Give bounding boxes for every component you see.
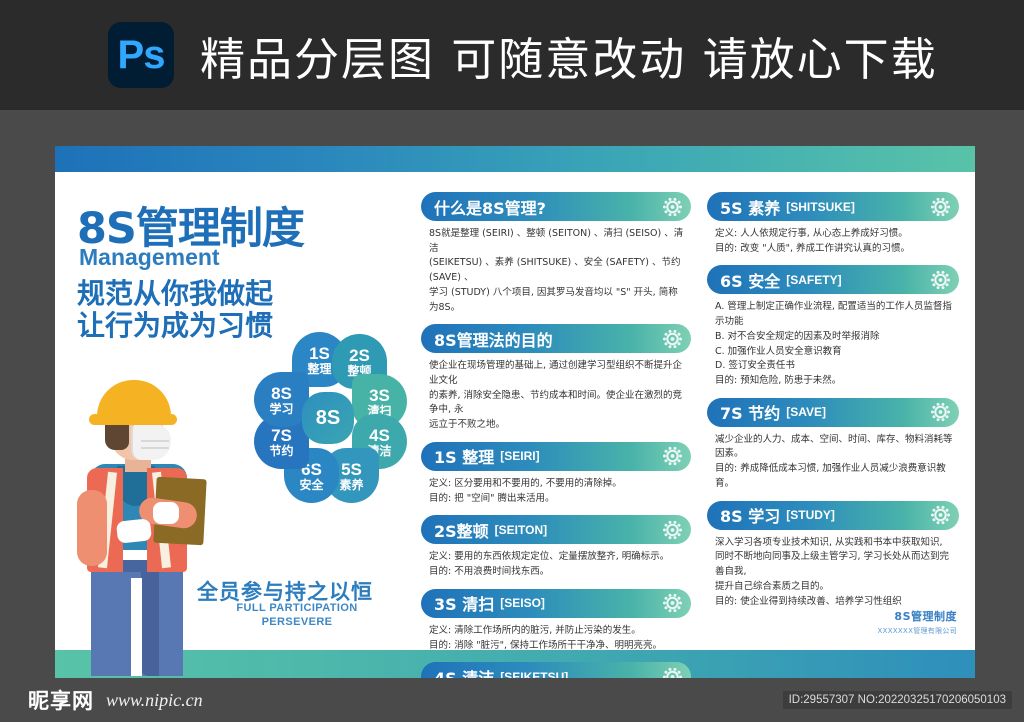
petal-8s-label: 学习 [269,403,293,415]
petal-7s-label: 节约 [269,445,293,457]
right_sections-section-line: D. 签订安全责任书 [715,359,955,374]
worker-mask-pleat-2 [141,447,169,449]
photoshop-logo-icon: Ps [108,22,174,88]
right_sections-section-header[interactable]: 8S 学习[STUDY] [707,501,959,530]
middle_sections-section-header[interactable]: 什么是8S管理? [421,192,691,221]
worker-glove-right [153,502,179,524]
watermark-url: www.nipic.cn [106,690,203,711]
right_sections-section-line: 目的: 养成降低成本习惯, 加强作业人员减少浪费意识教育。 [715,462,955,491]
middle_sections-section-body: 8S就是整理 (SEIRI) 、整顿 (SEITON) 、清扫 (SEISO) … [421,221,691,317]
corporate-name: 8S管理制度 [878,608,957,624]
right_sections-section-body: 定义: 人人依规定行事, 从心态上养成好习惯。目的: 改变 "人质", 养成工作… [707,221,959,258]
worker-mask-pleat-1 [141,440,169,442]
header-title: 精品分层图 可随意改动 请放心下载 [200,23,938,88]
middle_sections-section-title: 8S管理法的目的 [434,327,553,351]
right_sections-section-line: A. 管理上制定正确作业流程, 配置适当的工作人员监督指示功能 [715,300,955,329]
right_sections-section-line: 提升自己综合素质之目的。 [715,580,955,595]
worker-illustration [69,372,209,672]
petal-5s-label: 素养 [339,479,363,491]
poster-headline-english: Management [79,244,220,271]
right_sections-section-body: 减少企业的人力、成本、空间、时间、库存、物料消耗等因素。目的: 养成降低成本习惯… [707,427,959,494]
middle_sections-section-line: 的素养, 消除安全隐患、节约成本和时间。使企业在激烈的竞争中, 永 [429,389,687,418]
right_sections-section-body: A. 管理上制定正确作业流程, 配置适当的工作人员监督指示功能B. 对不合安全规… [707,294,959,390]
middle_sections-section-romaji: [SEISO] [500,596,545,610]
gear-icon [663,667,682,678]
middle_sections-section-title: 4S 清洁 [434,665,494,678]
right_sections-section-romaji: [SAFETY] [786,273,841,287]
right_sections-section: 5S 素养[SHITSUKE]定义: 人人依规定行事, 从心态上养成好习惯。目的… [707,192,959,258]
app-header: Ps 精品分层图 可随意改动 请放心下载 [0,0,1024,110]
worker-glove-left [116,518,152,543]
middle_sections-section-title: 3S 清扫 [434,591,494,615]
middle_sections-section-romaji: [SEIKETSU] [500,670,568,678]
right_sections-section-body: 深入学习各项专业技术知识, 从实践和书本中获取知识,同时不断地向同事及上级主管学… [707,530,959,612]
poster-right-column: 5S 素养[SHITSUKE]定义: 人人依规定行事, 从心态上养成好习惯。目的… [707,192,959,618]
middle_sections-section-title: 1S 整理 [434,444,494,468]
right_sections-section-romaji: [SHITSUKE] [786,200,855,214]
right_sections-section-title: 7S 节约 [720,400,780,424]
gear-icon [663,197,682,216]
middle_sections-section: 3S 清扫[SEISO]定义: 清除工作场所内的脏污, 并防止污染的发生。目的:… [421,589,691,655]
corporate-subtitle: XXXXXXX管理有限公司 [878,626,957,636]
worker-arm-left [77,490,107,566]
right_sections-section-line: 目的: 使企业得到持续改善、培养学习性组织 [715,595,955,610]
corporate-signature: 8S管理制度 XXXXXXX管理有限公司 [878,608,957,636]
middle_sections-section-line: 学习 (STUDY) 八个项目, 因其罗马发音均以 "S" 开头, 简称为8S。 [429,286,687,315]
worker-face-mask [131,424,171,460]
middle_sections-section-line: 远立于不败之地。 [429,418,687,433]
right_sections-section: 6S 安全[SAFETY]A. 管理上制定正确作业流程, 配置适当的工作人员监督… [707,265,959,390]
middle_sections-section-line: 目的: 把 "空间" 腾出来活用。 [429,492,687,507]
middle_sections-section: 2S整顿[SEITON]定义: 要用的东西依规定定位、定量摆放整齐, 明确标示。… [421,515,691,581]
gear-icon [663,594,682,613]
right_sections-section-line: 减少企业的人力、成本、空间、时间、库存、物料消耗等因素。 [715,433,955,462]
middle_sections-section-title: 2S整顿 [434,518,489,542]
middle_sections-section-romaji: [SEIRI] [500,449,539,463]
poster-top-gradient-bar [55,146,975,172]
petal-4s-number: 4S [369,427,390,444]
middle_sections-section: 8S管理法的目的使企业在现场管理的基础上, 通过创建学习型组织不断提升企业文化的… [421,324,691,435]
worker-hard-hat [97,380,171,420]
petal-5s-number: 5S [341,461,362,478]
middle_sections-section-header[interactable]: 3S 清扫[SEISO] [421,589,691,618]
petal-7s-number: 7S [271,427,292,444]
middle_sections-section-body: 使企业在现场管理的基础上, 通过创建学习型组织不断提升企业文化的素养, 消除安全… [421,353,691,435]
petal-3s-number: 3S [369,387,390,404]
right_sections-section-line: 深入学习各项专业技术知识, 从实践和书本中获取知识, [715,536,955,551]
gear-icon [663,520,682,539]
right_sections-section-header[interactable]: 7S 节约[SAVE] [707,398,959,427]
middle_sections-section-line: (SEIKETSU) 、素养 (SHITSUKE) 、安全 (SAFETY) 、… [429,256,687,285]
petal-center: 8S [302,392,354,444]
middle_sections-section: 4S 清洁[SEIKETSU]定义: 将上面3S实施的做法制度化, 规范化, 并… [421,662,691,678]
gear-icon [931,506,950,525]
petal-1s-number: 1S [309,345,330,362]
poster-middle-column: 什么是8S管理?8S就是整理 (SEIRI) 、整顿 (SEITON) 、清扫 … [421,192,691,678]
petal-8s: 8S 学习 [254,372,309,427]
middle_sections-section-body: 定义: 区分要用和不要用的, 不要用的清除掉。目的: 把 "空间" 腾出来活用。 [421,471,691,508]
gear-icon [663,447,682,466]
middle_sections-section-header[interactable]: 1S 整理[SEIRI] [421,442,691,471]
petal-2s-number: 2S [349,347,370,364]
asset-id-text: ID:29557307 NO:20220325170206050103 [783,691,1012,709]
right_sections-section-title: 6S 安全 [720,268,780,292]
right_sections-section-title: 5S 素养 [720,195,780,219]
right_sections-section-line: B. 对不合安全规定的因素及时举报消除 [715,330,955,345]
middle_sections-section-romaji: [SEITON] [495,523,547,537]
petal-8s-number: 8S [271,385,292,402]
right_sections-section-line: 目的: 预知危险, 防患于未然。 [715,374,955,389]
right_sections-section-romaji: [SAVE] [786,405,826,419]
worker-pants-gap [131,578,142,676]
right_sections-section-line: C. 加强作业人员安全意识教育 [715,345,955,360]
worker-pants-shadow [141,570,159,676]
page-footer: 昵享网 www.nipic.cn ID:29557307 NO:20220325… [0,678,1024,722]
middle_sections-section-line: 目的: 消除 "脏污", 保持工作场所干干净净、明明亮亮。 [429,639,687,654]
middle_sections-section: 1S 整理[SEIRI]定义: 区分要用和不要用的, 不要用的清除掉。目的: 把… [421,442,691,508]
poster-canvas: 8S管理制度 Management 规范从你我做起 让行为成为习惯 [55,146,975,678]
right_sections-section-line: 定义: 人人依规定行事, 从心态上养成好习惯。 [715,227,955,242]
middle_sections-section-header[interactable]: 8S管理法的目的 [421,324,691,353]
right_sections-section: 8S 学习[STUDY]深入学习各项专业技术知识, 从实践和书本中获取知识,同时… [707,501,959,612]
right_sections-section-line: 同时不断地向同事及上级主管学习, 学习长处从而达到完善自我, [715,550,955,579]
gear-icon [931,403,950,422]
middle_sections-section-line: 目的: 不用浪费时间找东西。 [429,565,687,580]
middle_sections-section-line: 定义: 清除工作场所内的脏污, 并防止污染的发生。 [429,624,687,639]
petal-1s-label: 整理 [307,363,331,375]
middle_sections-section-line: 8S就是整理 (SEIRI) 、整顿 (SEITON) 、清扫 (SEISO) … [429,227,687,256]
right_sections-section-romaji: [STUDY] [786,508,835,522]
right_sections-section: 7S 节约[SAVE]减少企业的人力、成本、空间、时间、库存、物料消耗等因素。目… [707,398,959,494]
middle_sections-section-title: 什么是8S管理? [434,195,546,219]
gear-icon [931,197,950,216]
middle_sections-section-body: 定义: 清除工作场所内的脏污, 并防止污染的发生。目的: 消除 "脏污", 保持… [421,618,691,655]
middle_sections-section-header[interactable]: 2S整顿[SEITON] [421,515,691,544]
right_sections-section-header[interactable]: 5S 素养[SHITSUKE] [707,192,959,221]
petal-6s-label: 安全 [299,479,323,491]
middle_sections-section-body: 定义: 要用的东西依规定定位、定量摆放整齐, 明确标示。目的: 不用浪费时间找东… [421,544,691,581]
gear-icon [663,329,682,348]
middle_sections-section-line: 定义: 要用的东西依规定定位、定量摆放整齐, 明确标示。 [429,550,687,565]
poster-left-column: 8S管理制度 Management 规范从你我做起 让行为成为习惯 [55,172,405,650]
poster-slogan-english: FULL PARTICIPATION PERSEVERE [207,602,387,630]
right_sections-section-header[interactable]: 6S 安全[SAFETY] [707,265,959,294]
eight-s-petal-diagram: 1S 整理 2S 整顿 3S 清扫 4S 清洁 5S 素养 6S 安全 [240,332,400,504]
right_sections-section-line: 目的: 改变 "人质", 养成工作讲究认真的习惯。 [715,242,955,257]
middle_sections-section-line: 使企业在现场管理的基础上, 通过创建学习型组织不断提升企业文化 [429,359,687,388]
photoshop-logo-text: Ps [118,33,165,78]
right_sections-section-title: 8S 学习 [720,503,780,527]
watermark-logo: 昵享网 [28,685,94,715]
middle_sections-section: 什么是8S管理?8S就是整理 (SEIRI) 、整顿 (SEITON) 、清扫 … [421,192,691,317]
middle_sections-section-line: 定义: 区分要用和不要用的, 不要用的清除掉。 [429,477,687,492]
middle_sections-section-header[interactable]: 4S 清洁[SEIKETSU] [421,662,691,678]
gear-icon [931,270,950,289]
